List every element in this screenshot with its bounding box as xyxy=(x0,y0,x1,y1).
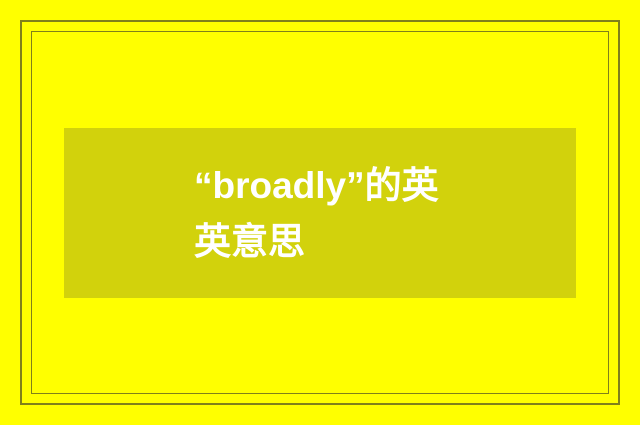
poster-canvas: “broadly”的英英意思 xyxy=(0,0,640,425)
title-card: “broadly”的英英意思 xyxy=(64,128,576,298)
page-title: “broadly”的英英意思 xyxy=(194,158,454,270)
